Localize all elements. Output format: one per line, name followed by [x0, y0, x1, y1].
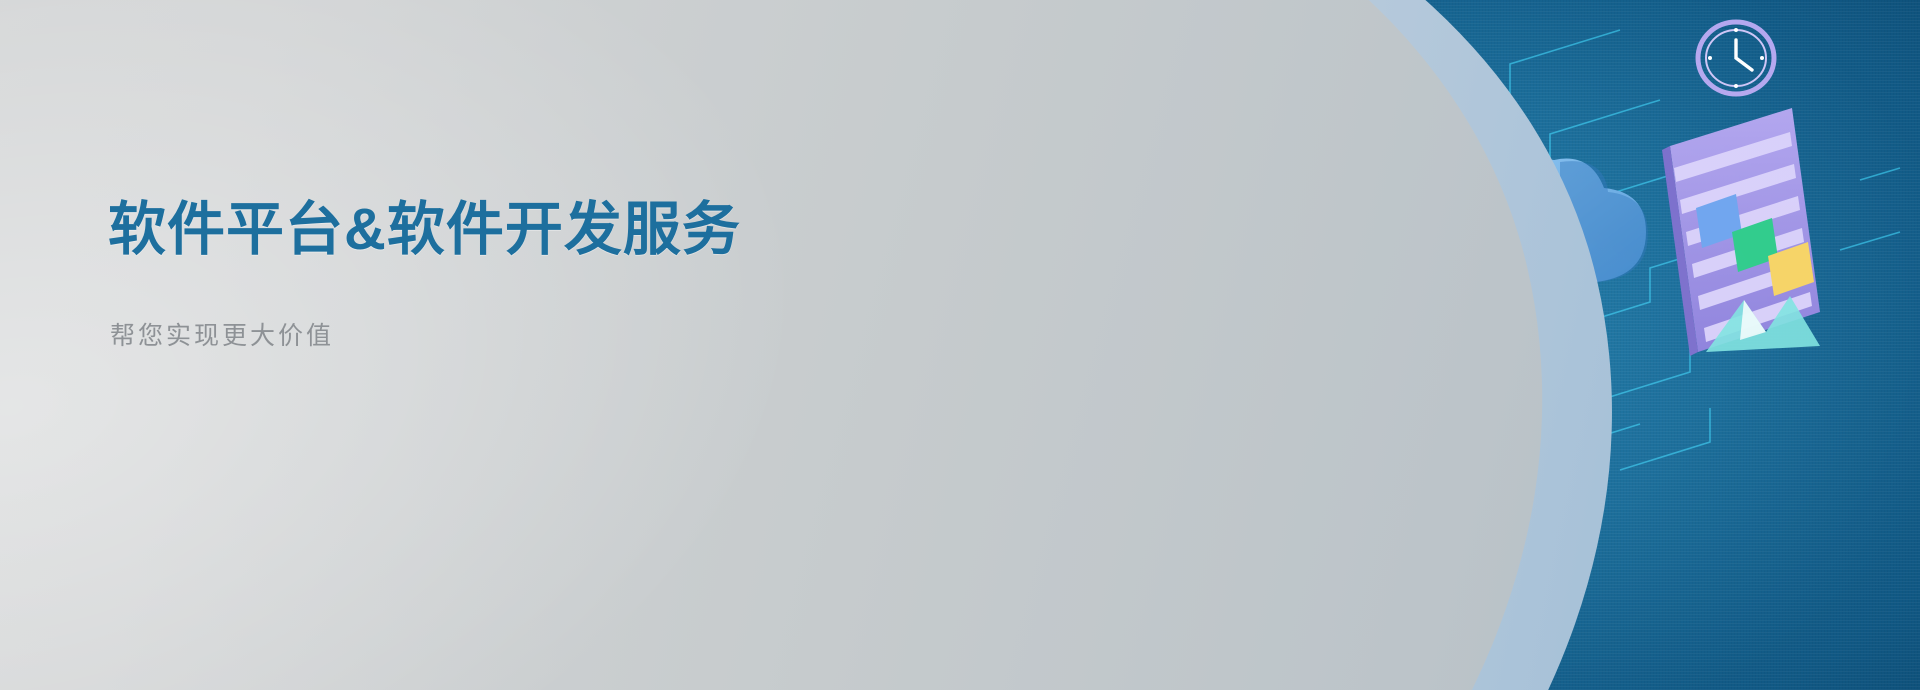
banner-copy: 软件平台&软件开发服务 帮您实现更大价值 [108, 196, 868, 352]
banner-subtitle: 帮您实现更大价值 [110, 316, 868, 352]
banner-title: 软件平台&软件开发服务 [108, 196, 868, 264]
hero-banner: 软件平台&软件开发服务 帮您实现更大价值 [0, 0, 1920, 690]
